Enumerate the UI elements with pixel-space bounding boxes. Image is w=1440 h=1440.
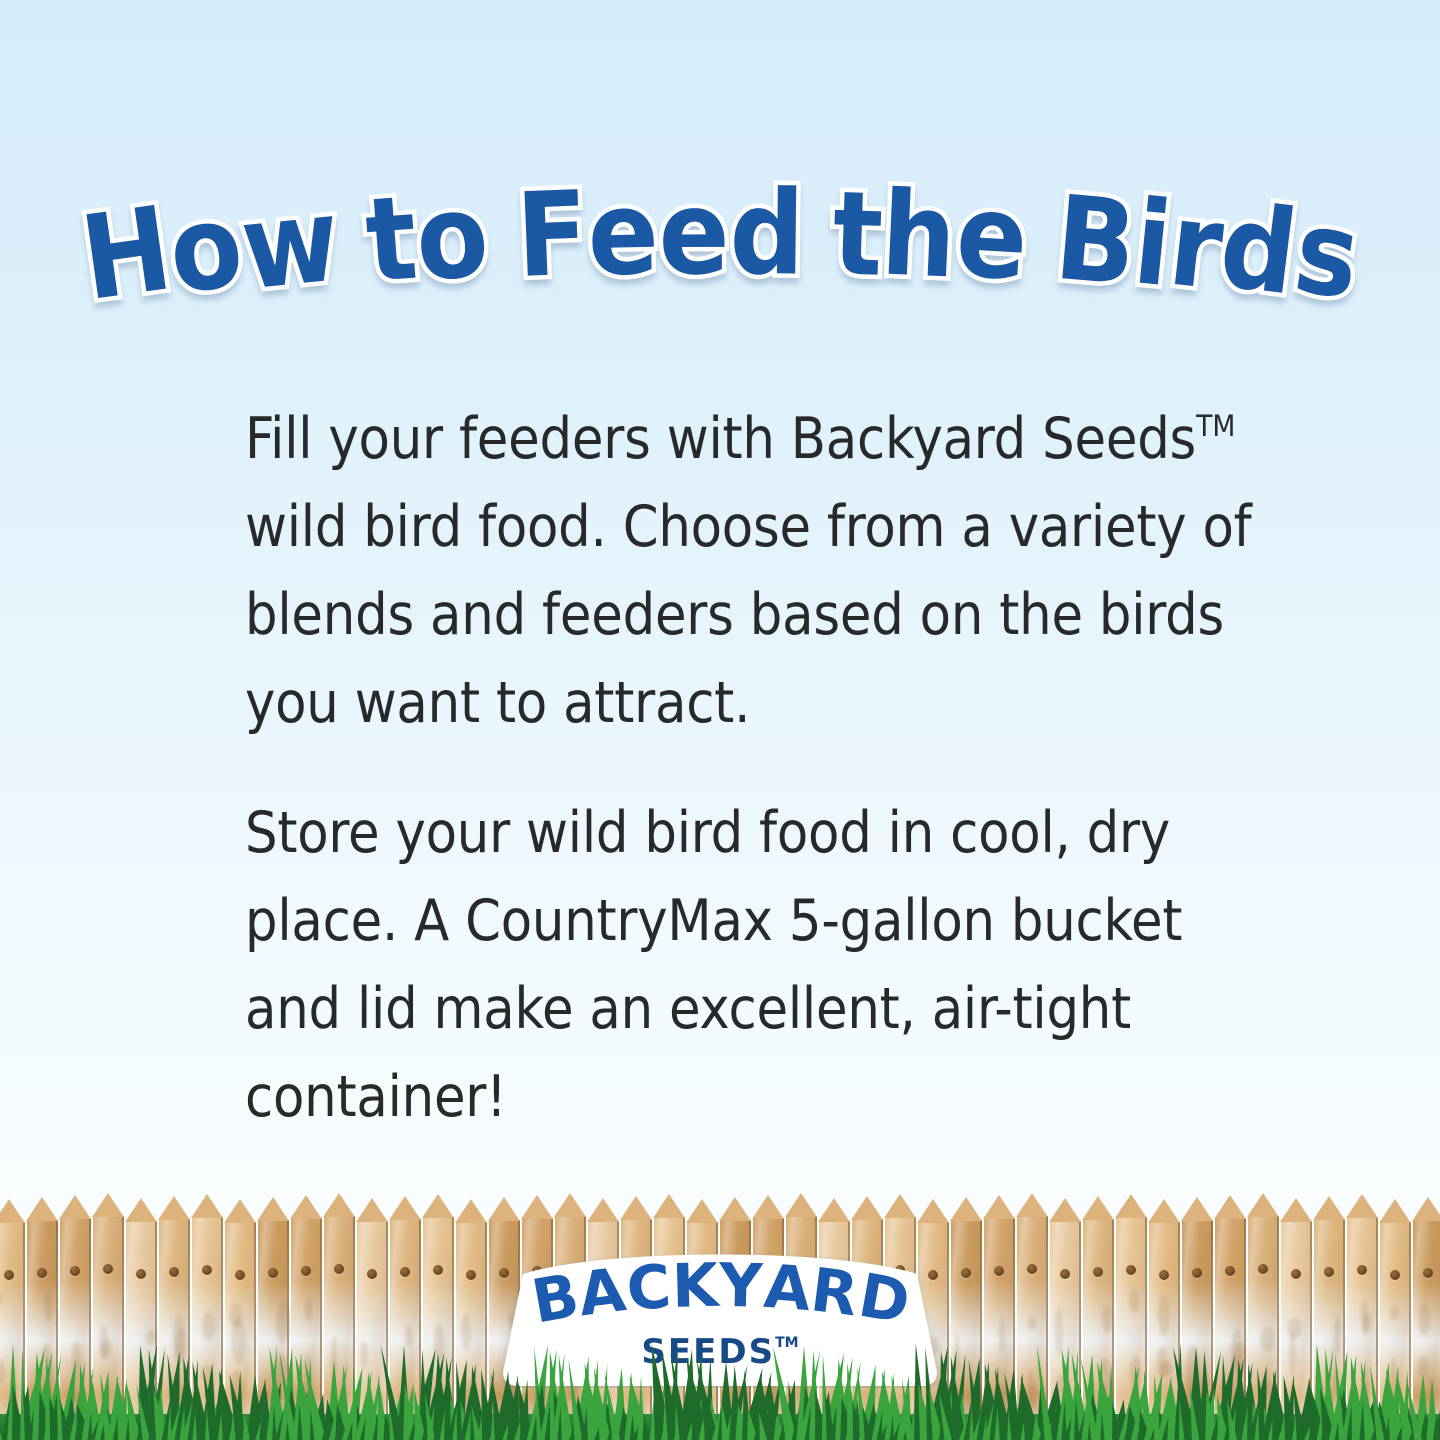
logo-letter: K xyxy=(671,1256,718,1317)
title-letter: e xyxy=(658,176,728,292)
title-letter: e xyxy=(953,178,1030,298)
logo-letter: Y xyxy=(719,1256,763,1317)
title-letter: t xyxy=(362,181,420,300)
title-letter: o xyxy=(413,178,491,298)
grass-graphic xyxy=(0,1328,1440,1440)
title-letter: t xyxy=(831,176,884,293)
title-letter: F xyxy=(514,176,589,295)
body-copy: Fill your feeders with Backyard SeedsTM … xyxy=(245,382,1255,1141)
wood-grain xyxy=(0,1292,3,1306)
poster-canvas: HowtoFeedtheBirds HowtoFeedtheBirds Fill… xyxy=(0,0,1440,1440)
paragraph-store-food: Store your wild bird food in cool, dry p… xyxy=(245,789,1255,1141)
paragraph-1-lead: Fill your feeders with Backyard Seeds xyxy=(245,406,1196,472)
page-title: HowtoFeedtheBirds HowtoFeedtheBirds xyxy=(0,0,1440,330)
logo-letter: A xyxy=(762,1257,812,1320)
title-letter: w xyxy=(236,182,343,307)
title-letter: B xyxy=(1051,181,1139,303)
title-letter: e xyxy=(587,176,659,293)
wood-grain xyxy=(44,1290,52,1322)
wood-grain xyxy=(1390,1305,1399,1320)
logo-letter: D xyxy=(854,1265,913,1333)
title-letter: h xyxy=(879,177,957,296)
paragraph-fill-feeders: Fill your feeders with Backyard SeedsTM … xyxy=(245,382,1255,747)
paragraph-1-rest: wild bird food. Choose from a variety of… xyxy=(245,494,1251,736)
trademark-symbol: TM xyxy=(1196,408,1235,443)
logo-letter: B xyxy=(527,1266,582,1333)
logo-letter: A xyxy=(576,1260,629,1325)
title-letter: o xyxy=(163,188,247,312)
logo-letter: R xyxy=(808,1260,860,1325)
title-letter: d xyxy=(729,176,804,293)
wood-grain xyxy=(1129,1289,1139,1313)
title-letter: d xyxy=(1215,188,1302,312)
wood-grain xyxy=(305,1299,312,1322)
title-letter: H xyxy=(75,191,177,318)
logo-letter: C xyxy=(625,1257,672,1320)
